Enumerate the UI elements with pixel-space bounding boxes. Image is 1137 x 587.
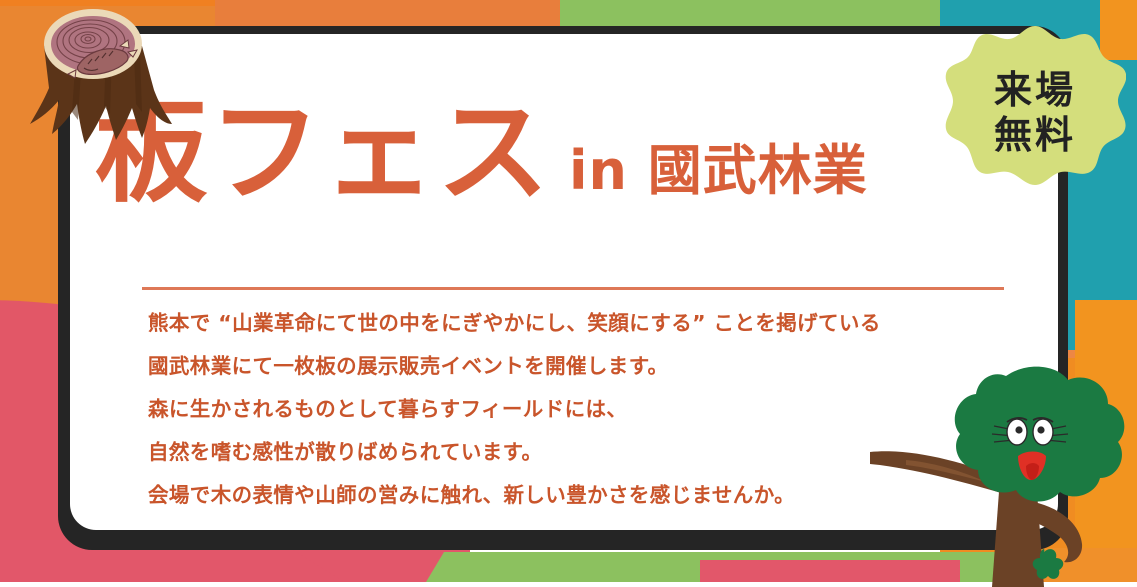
tree-mascot-icon xyxy=(868,356,1137,587)
event-poster: 板フェス in 國武林業 熊本で “山業革命にて世の中をにぎやかにし、笑顔にする… xyxy=(0,0,1137,587)
free-admission-badge: 来場 無料 xyxy=(944,24,1126,202)
badge-line-1: 来場 xyxy=(994,69,1076,112)
body-line: 熊本で “山業革命にて世の中をにぎやかにし、笑顔にする” ことを掲げている xyxy=(148,302,968,345)
tree-stump-icon xyxy=(14,0,194,154)
badge-text-group: 来場 無料 xyxy=(944,24,1126,202)
poster-title: 板フェス in 國武林業 xyxy=(95,100,868,206)
body-line: 國武林業にて一枚板の展示販売イベントを開催します。 xyxy=(148,345,968,388)
poster-body-copy: 熊本で “山業革命にて世の中をにぎやかにし、笑顔にする” ことを掲げている 國武… xyxy=(148,302,968,517)
title-divider-rule xyxy=(142,287,1004,290)
body-line: 森に生かされるものとして暮らすフィールドには、 xyxy=(148,388,968,431)
body-line: 会場で木の表情や山師の営みに触れ、新しい豊かさを感じませんか。 xyxy=(148,474,968,517)
title-sub-text: in 國武林業 xyxy=(569,144,868,206)
body-line: 自然を嗜む感性が散りばめられています。 xyxy=(148,431,968,474)
badge-line-2: 無料 xyxy=(994,114,1076,157)
